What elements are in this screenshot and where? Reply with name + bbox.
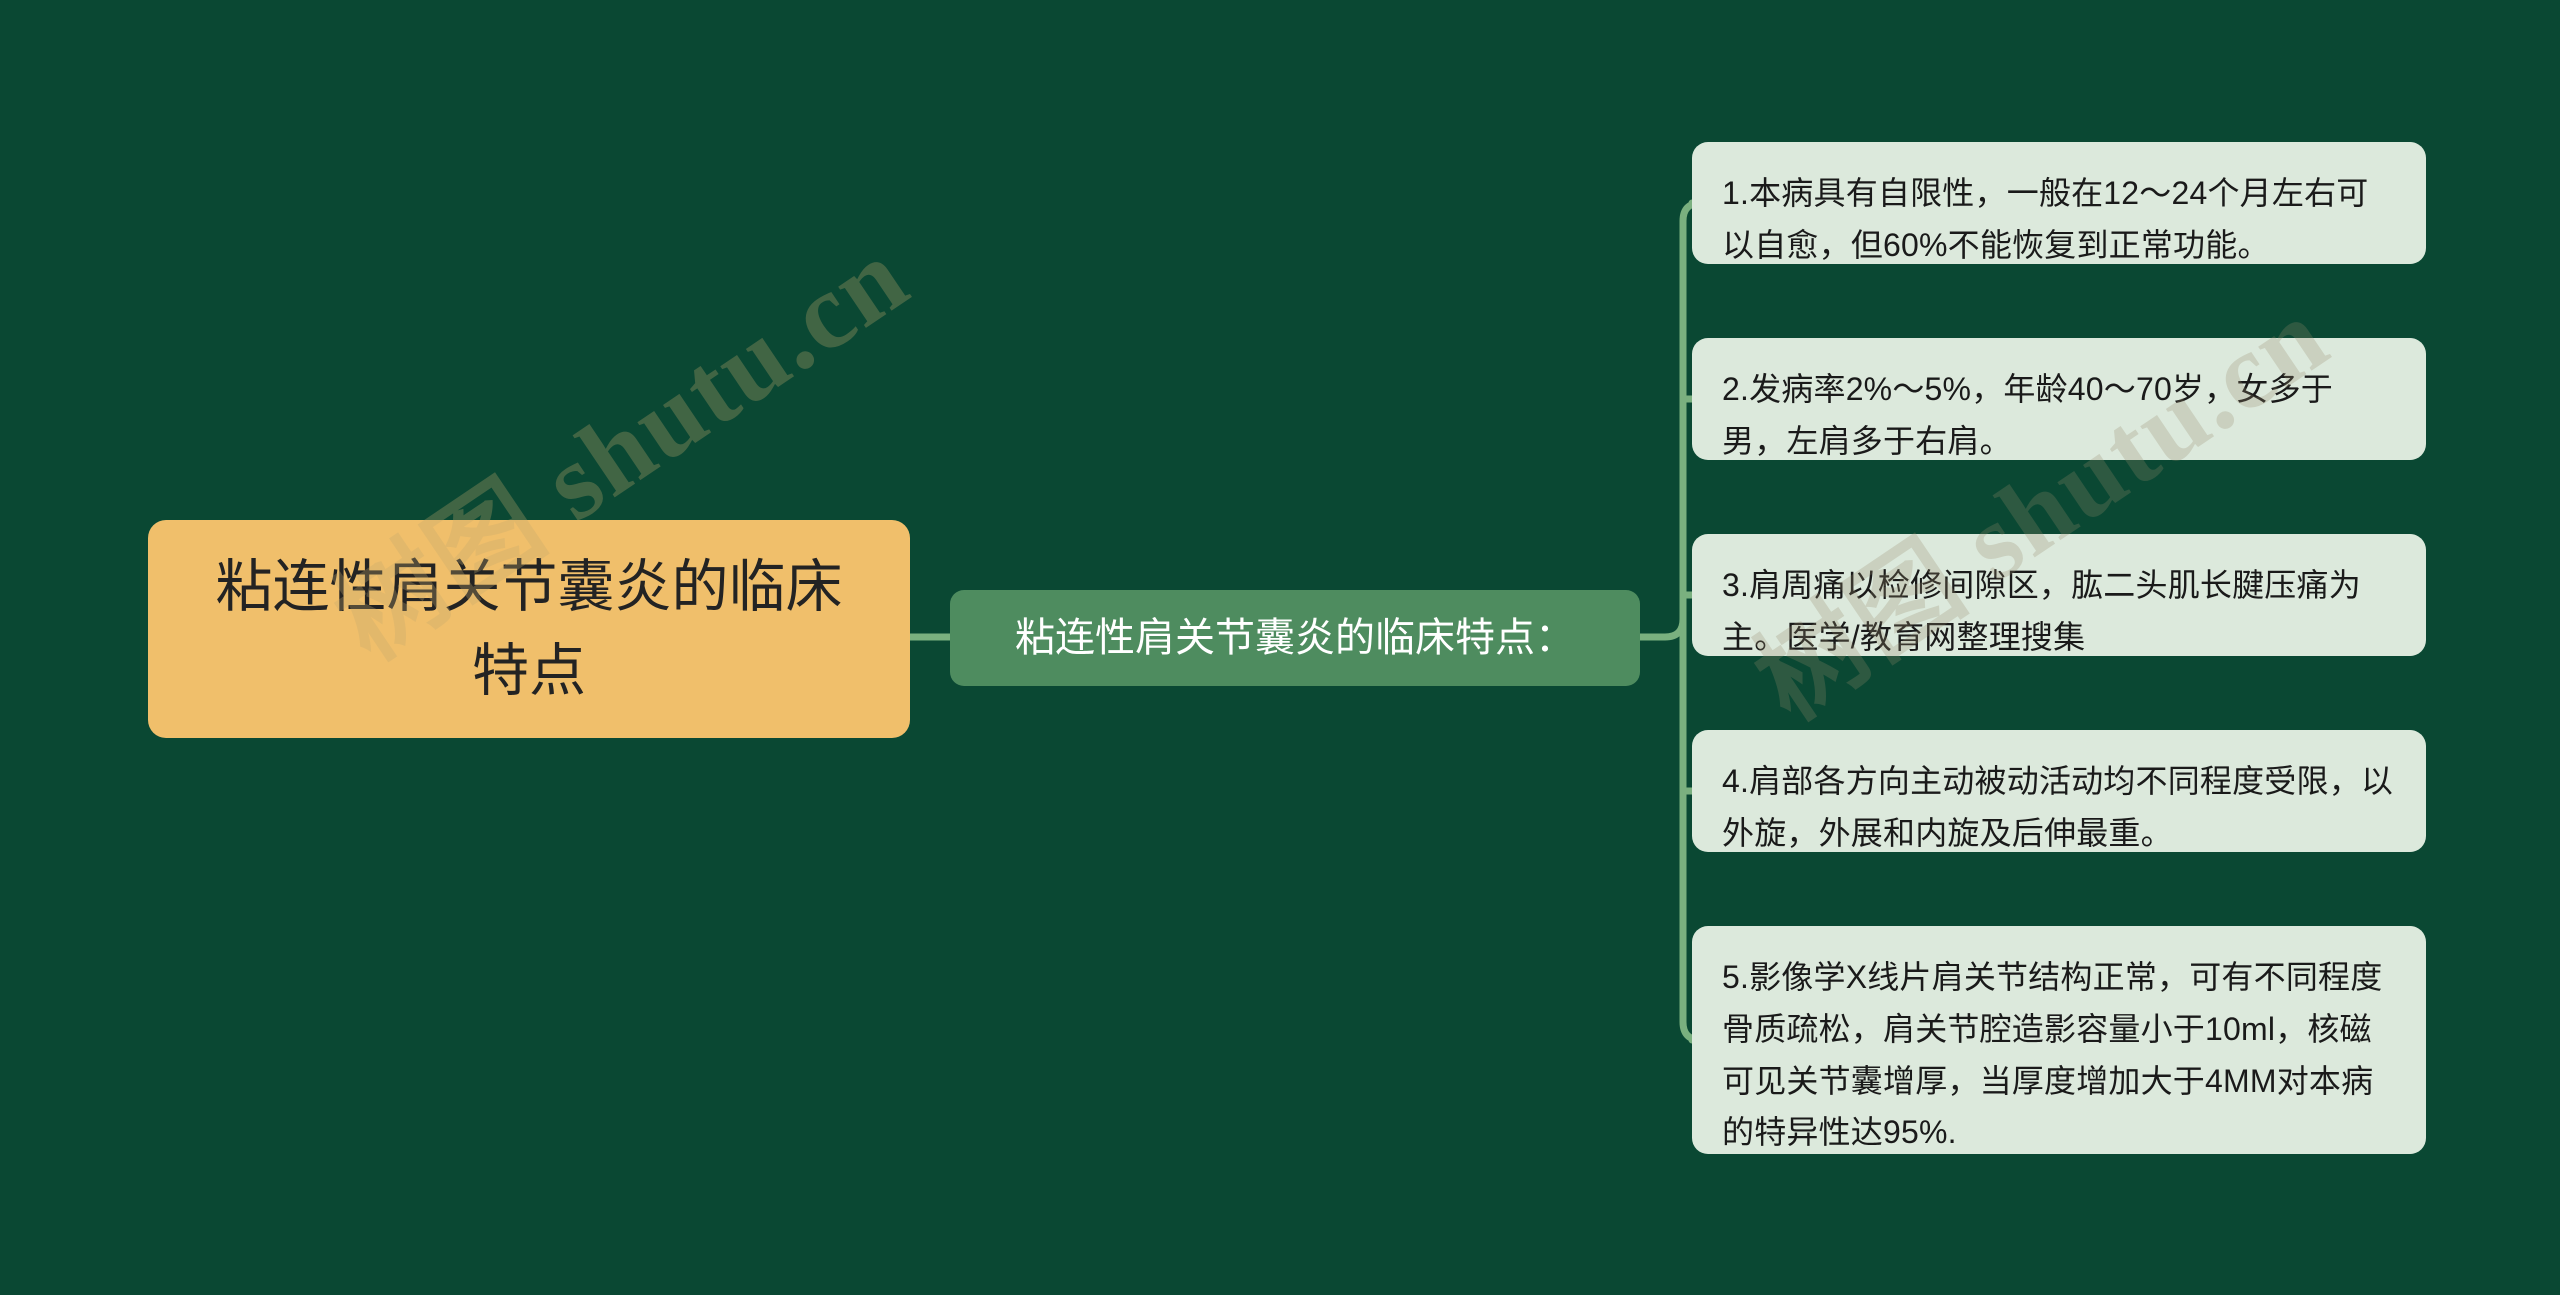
branch-node-label: 粘连性肩关节囊炎的临床特点：: [1015, 612, 1575, 664]
leaf-node-label-3: 3.肩周痛以检修间隙区，肱二头肌长腱压痛为主。医学/教育网整理搜集: [1722, 560, 2396, 664]
mindmap-root-node[interactable]: 粘连性肩关节囊炎的临床特点: [148, 520, 910, 738]
mindmap-branch-node[interactable]: 粘连性肩关节囊炎的临床特点：: [950, 590, 1640, 686]
root-node-label: 粘连性肩关节囊炎的临床特点: [188, 545, 870, 714]
mindmap-leaf-node-3[interactable]: 3.肩周痛以检修间隙区，肱二头肌长腱压痛为主。医学/教育网整理搜集: [1692, 534, 2426, 656]
leaf-node-label-4: 4.肩部各方向主动被动活动均不同程度受限，以外旋，外展和内旋及后伸最重。: [1722, 756, 2396, 860]
mindmap-leaf-node-1[interactable]: 1.本病具有自限性，一般在12～24个月左右可以自愈，但60%不能恢复到正常功能…: [1692, 142, 2426, 264]
leaf-node-label-2: 2.发病率2%～5%，年龄40～70岁，女多于男，左肩多于右肩。: [1722, 364, 2396, 468]
leaf-node-label-1: 1.本病具有自限性，一般在12～24个月左右可以自愈，但60%不能恢复到正常功能…: [1722, 168, 2396, 272]
connector-branch-to-trunk: [1640, 619, 1683, 637]
mindmap-leaf-node-4[interactable]: 4.肩部各方向主动被动活动均不同程度受限，以外旋，外展和内旋及后伸最重。: [1692, 730, 2426, 852]
mindmap-canvas: 树图 shutu.cn 树图 shutu.cn 粘连性肩关节囊炎的临床特点 粘连…: [0, 0, 2560, 1295]
mindmap-leaf-node-2[interactable]: 2.发病率2%～5%，年龄40～70岁，女多于男，左肩多于右肩。: [1692, 338, 2426, 460]
mindmap-leaf-node-5[interactable]: 5.影像学X线片肩关节结构正常，可有不同程度骨质疏松，肩关节腔造影容量小于10m…: [1692, 926, 2426, 1154]
leaf-node-label-5: 5.影像学X线片肩关节结构正常，可有不同程度骨质疏松，肩关节腔造影容量小于10m…: [1722, 952, 2396, 1159]
